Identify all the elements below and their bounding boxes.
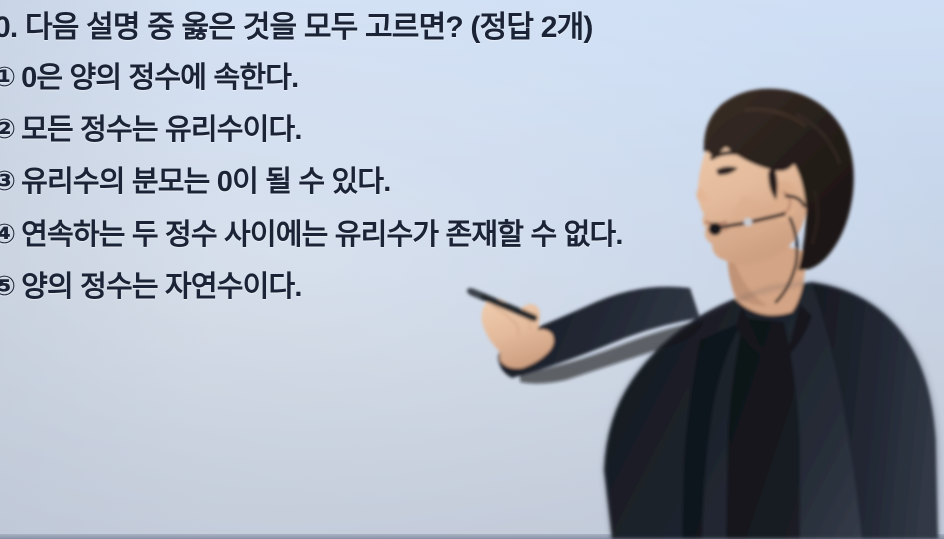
choice-text-5: 양의 정수는 자연수이다. [21,271,302,303]
choice-marker-1: ① [0,62,15,93]
choice-text-1: 0은 양의 정수에 속한다. [21,62,298,94]
choice-item-3: ③유리수의 분모는 0이 될 수 있다. [0,158,391,200]
choice-item-4: ④연속하는 두 정수 사이에는 유리수가 존재할 수 없다. [0,211,623,253]
choice-item-5: ⑤양의 정수는 자연수이다. [0,263,302,305]
choice-text-4: 연속하는 두 정수 사이에는 유리수가 존재할 수 없다. [21,219,623,251]
lecture-slide-screenshot: 0. 다음 설명 중 옳은 것을 모두 고르면? (정답 2개) ①0은 양의 … [0,0,944,539]
choice-item-2: ②모든 정수는 유리수이다. [0,106,302,148]
choice-text-3: 유리수의 분모는 0이 될 수 있다. [21,166,390,198]
choice-marker-4: ④ [0,219,15,250]
choice-marker-3: ③ [0,166,15,197]
choice-item-1: ①0은 양의 정수에 속한다. [0,54,298,96]
question-title: 0. 다음 설명 중 옳은 것을 모두 고르면? (정답 2개) [0,2,593,46]
choice-marker-5: ⑤ [0,271,15,302]
choice-text-2: 모든 정수는 유리수이다. [21,114,302,146]
board-bottom-edge [0,534,944,539]
choice-marker-2: ② [0,114,15,145]
